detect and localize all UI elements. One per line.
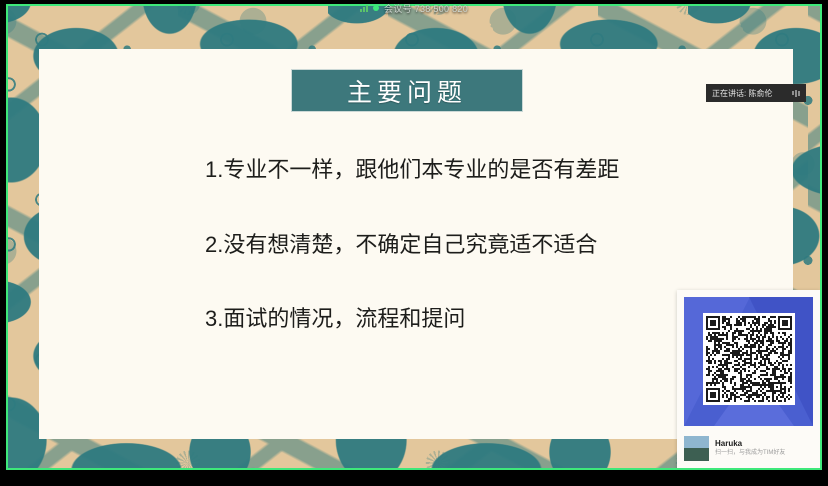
contact-avatar-icon (684, 436, 709, 461)
active-speaker-badge: 正在讲话: 陈俞伦 (706, 84, 806, 102)
contact-name: Haruka (715, 439, 785, 449)
list-item: 3.面试的情况，流程和提问 (205, 305, 675, 333)
slide-bullet-list: 1.专业不一样，跟他们本专业的是否有差距 2.没有想清楚，不确定自己究竟适不适合… (205, 156, 675, 380)
audio-wave-icon (792, 90, 800, 97)
qr-code-icon (684, 297, 813, 426)
page-title: 主要问题 (347, 73, 467, 109)
contact-hint: 扫一扫，与我成为TIM好友 (715, 450, 785, 458)
active-speaker-label: 正在讲话: 陈俞伦 (712, 88, 788, 99)
screen-capture-frame: 主要问题 1.专业不一样，跟他们本专业的是否有差距 2.没有想清楚，不确定自己究… (6, 4, 822, 470)
qr-card-footer: Haruka 扫一扫，与我成为TIM好友 (684, 436, 813, 461)
list-item: 1.专业不一样，跟他们本专业的是否有差距 (205, 156, 675, 184)
list-item: 2.没有想清楚，不确定自己究竟适不适合 (205, 231, 675, 259)
screen-share-view: 主要问题 1.专业不一样，跟他们本专业的是否有差距 2.没有想清楚，不确定自己究… (0, 0, 828, 486)
slide-title-banner: 主要问题 (291, 69, 523, 112)
slide-content-panel: 主要问题 1.专业不一样，跟他们本专业的是否有差距 2.没有想清楚，不确定自己究… (39, 49, 793, 439)
qr-matrix (703, 313, 795, 405)
qr-contact-card[interactable]: Haruka 扫一扫，与我成为TIM好友 (677, 290, 820, 470)
